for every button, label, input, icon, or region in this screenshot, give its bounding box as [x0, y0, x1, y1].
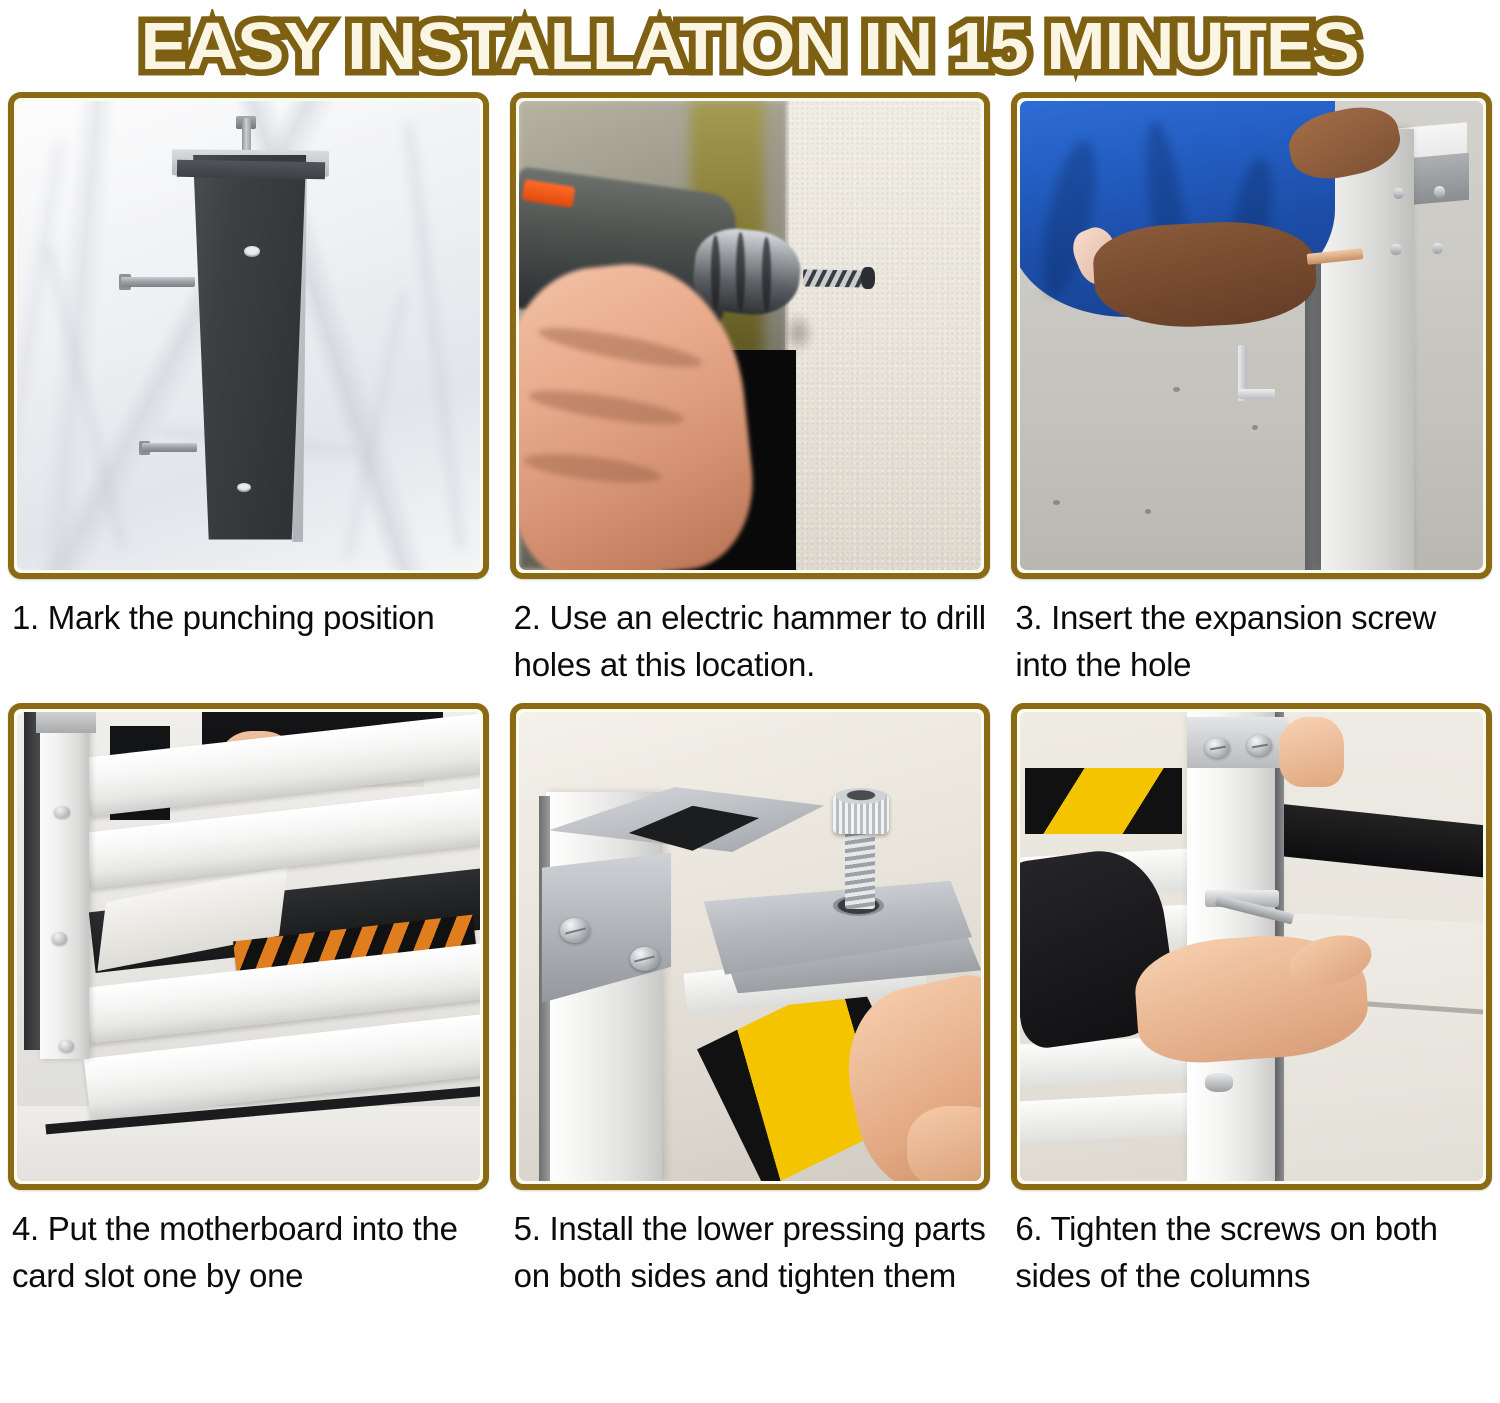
thumb-screw-thread-icon: [845, 829, 875, 909]
white-column-body: [40, 712, 89, 1059]
step-card-6: 6. Tighten the screws on both sides of t…: [1011, 703, 1492, 1306]
punch-hole-mark-icon: [237, 483, 251, 492]
step-3-caption: 3. Insert the expansion screw into the h…: [1011, 595, 1492, 703]
cloth-fold-icon: [17, 141, 63, 540]
drill-dust-icon: [782, 312, 814, 354]
column-bolt-icon: [1205, 1073, 1233, 1092]
step-1-caption: 1. Mark the punching position: [8, 595, 489, 703]
step-3-photo-frame: [1011, 92, 1492, 579]
page-title: EASY INSTALLATION IN 15 MINUTES: [141, 8, 1359, 85]
side-bolt-icon: [121, 277, 195, 287]
step-2-photo-frame: [510, 92, 991, 579]
column-screw-icon: [54, 806, 70, 818]
step-card-4: 4. Put the motherboard into the card slo…: [8, 703, 489, 1306]
step-2-photo-drill-holes: [519, 101, 982, 570]
column-cap-shadow: [176, 160, 324, 179]
column-shadow-edge: [24, 712, 40, 1050]
step-5-photo-lower-pressing-parts: [519, 712, 982, 1181]
finger-icon: [907, 1106, 981, 1181]
step-2-caption: 2. Use an electric hammer to drill holes…: [510, 595, 991, 703]
floor-speck: [1053, 500, 1060, 505]
floor-speck: [1252, 425, 1258, 430]
floor-surface: [17, 1106, 480, 1181]
drill-bit-tip-icon: [861, 267, 875, 289]
cloth-fold-icon: [405, 121, 465, 550]
step-4-photo-frame: [8, 703, 489, 1190]
allen-key-short-arm: [1238, 389, 1275, 398]
steps-grid-row-2: 4. Put the motherboard into the card slo…: [0, 703, 1500, 1306]
cloth-fold-icon: [44, 246, 125, 548]
column-cap-plate: [36, 712, 96, 733]
step-5-caption: 5. Install the lower pressing parts on b…: [510, 1206, 991, 1306]
bracket-screw-icon: [630, 947, 660, 971]
step-4-photo-boards-into-card-slot: [17, 712, 480, 1181]
column-screw-icon: [1390, 244, 1401, 255]
punch-hole-mark-icon: [244, 246, 261, 256]
column-cap-plate: [1187, 717, 1289, 769]
column-screw-icon: [1393, 188, 1404, 199]
step-1-photo-frame: [8, 92, 489, 579]
step-5-photo-frame: [510, 703, 991, 1190]
step-4-caption: 4. Put the motherboard into the card slo…: [8, 1206, 489, 1306]
step-card-1: 1. Mark the punching position: [8, 92, 489, 703]
step-card-2: 2. Use an electric hammer to drill holes…: [510, 92, 991, 703]
bracket-screw-icon: [560, 918, 590, 942]
hand-icon: [1279, 717, 1344, 787]
column-screw-icon: [1432, 243, 1443, 254]
cloth-fold-icon: [345, 291, 406, 558]
side-bolt-icon: [142, 443, 198, 452]
drill-chuck-ring: [711, 235, 720, 310]
hazard-stripe-icon: [1025, 768, 1182, 834]
drill-bit-icon: [803, 269, 868, 287]
step-6-photo-tighten-screws: [1020, 712, 1483, 1181]
step-card-3: 3. Insert the expansion screw into the h…: [1011, 92, 1492, 703]
mounting-column-body: [186, 155, 306, 540]
steps-grid-row-1: 1. Mark the punching position: [0, 92, 1500, 703]
step-3-photo-insert-expansion-screw: [1020, 101, 1483, 570]
step-card-5: 5. Install the lower pressing parts on b…: [510, 703, 991, 1306]
step-1-photo-mark-punching-position: [17, 101, 480, 570]
step-6-photo-frame: [1011, 703, 1492, 1190]
step-6-caption: 6. Tighten the screws on both sides of t…: [1011, 1206, 1492, 1306]
banner-title-bar: EASY INSTALLATION IN 15 MINUTES: [0, 0, 1500, 92]
thumb-screw-socket-icon: [836, 788, 887, 804]
column-screw-icon: [52, 932, 68, 944]
drill-chuck-ring: [762, 237, 771, 312]
column-screw-icon: [1247, 735, 1272, 756]
